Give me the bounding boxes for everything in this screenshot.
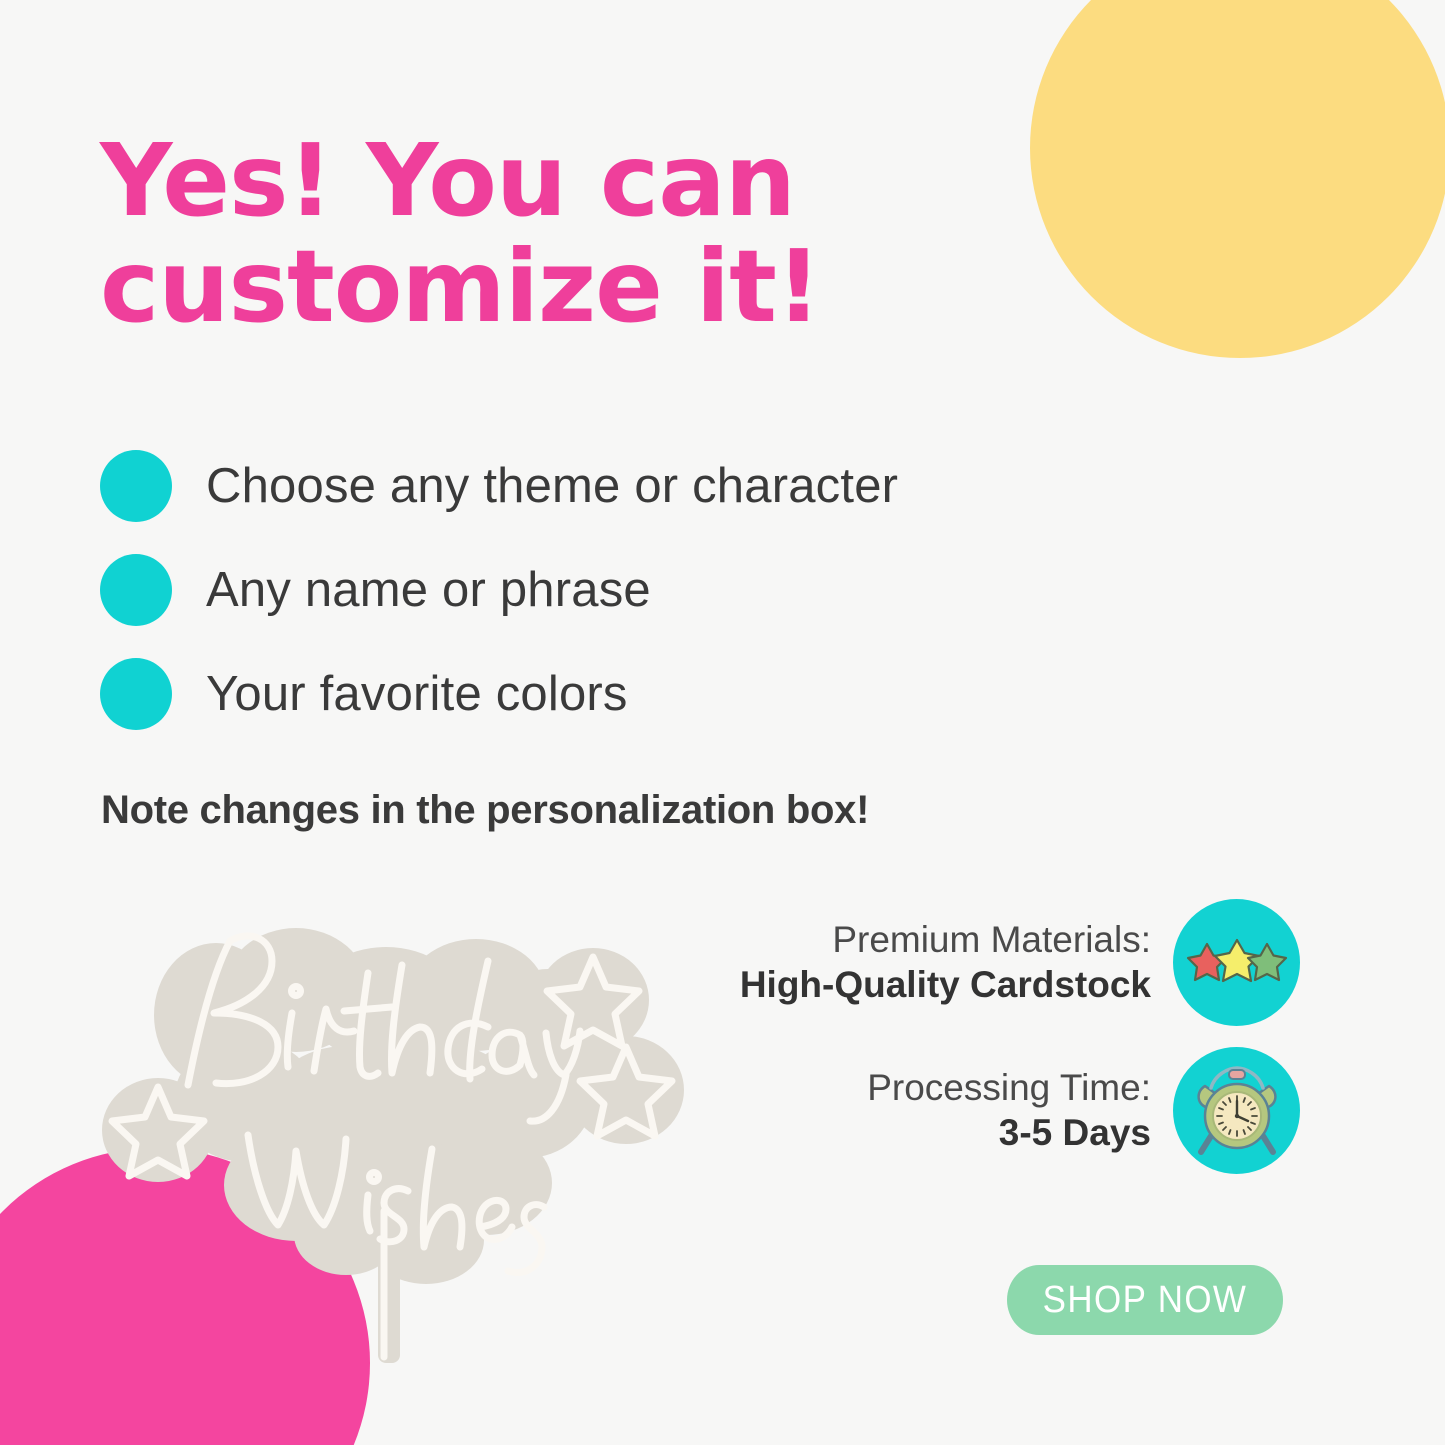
feature-badges: Premium Materials: High-Quality Cardstoc…	[680, 898, 1300, 1194]
feature-row-processing-time: Processing Time: 3-5 Days	[680, 1046, 1300, 1174]
feature-text-group: Premium Materials: High-Quality Cardstoc…	[740, 917, 1151, 1007]
feature-text-group: Processing Time: 3-5 Days	[867, 1065, 1151, 1155]
bullet-dot-icon	[100, 554, 172, 626]
shop-now-button[interactable]: SHOP NOW	[1007, 1265, 1283, 1335]
bullet-label: Choose any theme or character	[206, 458, 898, 514]
three-stars-icon	[1173, 899, 1300, 1026]
yellow-circle-decoration	[1030, 0, 1445, 358]
headline-line-2: customize it!	[100, 234, 960, 340]
list-item: Choose any theme or character	[100, 434, 1100, 538]
bullet-label: Any name or phrase	[206, 562, 651, 618]
bullet-dot-icon	[100, 658, 172, 730]
personalization-note: Note changes in the personalization box!	[101, 788, 869, 833]
feature-row-premium-materials: Premium Materials: High-Quality Cardstoc…	[680, 898, 1300, 1026]
bullet-dot-icon	[100, 450, 172, 522]
feature-title: Processing Time:	[867, 1065, 1151, 1110]
feature-value: 3-5 Days	[867, 1110, 1151, 1155]
promo-canvas: Yes! You can customize it! Choose any th…	[0, 0, 1445, 1445]
product-image-cake-topper	[96, 895, 716, 1365]
feature-bullet-list: Choose any theme or character Any name o…	[100, 434, 1100, 746]
headline: Yes! You can customize it!	[100, 128, 960, 340]
alarm-clock-icon	[1173, 1047, 1300, 1174]
feature-value: High-Quality Cardstock	[740, 962, 1151, 1007]
list-item: Your favorite colors	[100, 642, 1100, 746]
list-item: Any name or phrase	[100, 538, 1100, 642]
bullet-label: Your favorite colors	[206, 666, 628, 722]
headline-line-1: Yes! You can	[100, 128, 960, 234]
feature-title: Premium Materials:	[740, 917, 1151, 962]
